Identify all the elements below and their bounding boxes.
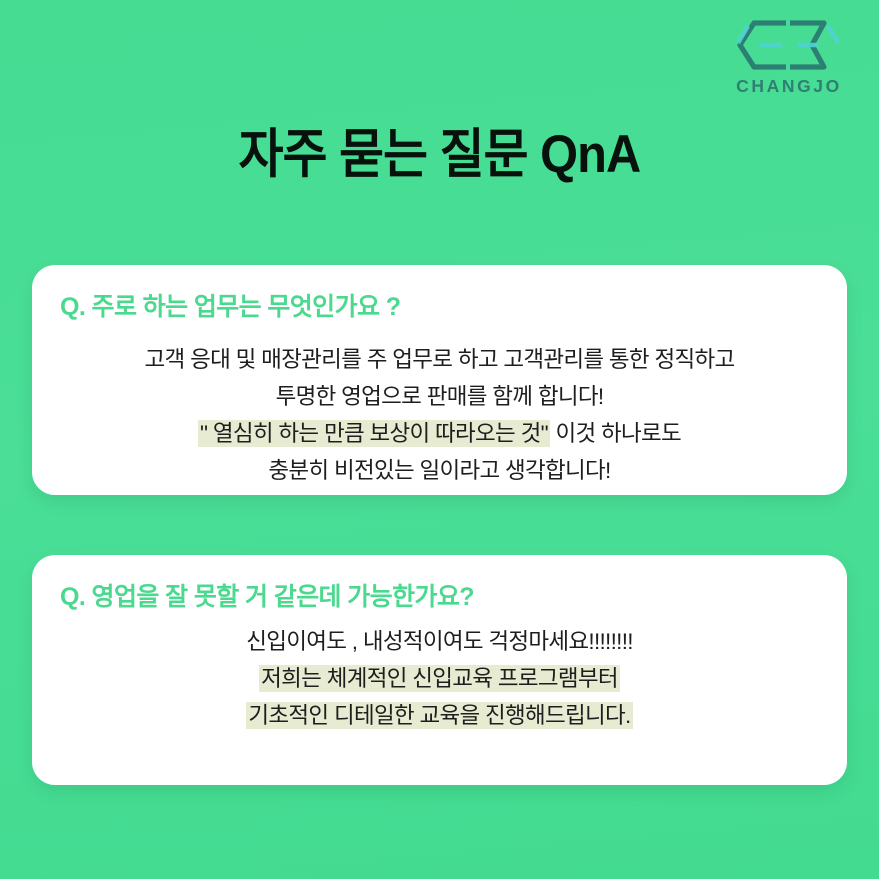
answer-line: 신입이여도 , 내성적이여도 걱정마세요!!!!!!!! (32, 623, 847, 660)
answer-line: " 열심히 하는 만큼 보상이 따라오는 것" 이것 하나로도 (32, 415, 847, 452)
answer-text: 신입이여도 , 내성적이여도 걱정마세요!!!!!!!! (246, 629, 633, 654)
faq-question-1: Q. 주로 하는 업무는 무엇인가요 ? (60, 287, 400, 323)
page-title: 자주 묻는 질문 QnA (35, 112, 844, 188)
highlighted-text: " 열심히 하는 만큼 보상이 따라오는 것" (198, 420, 550, 447)
brand-logo: CHANGJO (721, 14, 857, 96)
answer-text: 이것 하나로도 (550, 421, 681, 446)
answer-text: 고객 응대 및 매장관리를 주 업무로 하고 고객관리를 통한 정직하고 (145, 347, 735, 372)
answer-line: 투명한 영업으로 판매를 함께 합니다! (32, 378, 847, 415)
faq-question-2: Q. 영업을 잘 못할 거 같은데 가능한가요? (60, 577, 474, 613)
faq-card-2: Q. 영업을 잘 못할 거 같은데 가능한가요? 신입이여도 , 내성적이여도 … (32, 555, 847, 785)
highlighted-text: 저희는 체계적인 신입교육 프로그램부터 (259, 665, 620, 692)
highlighted-text: 기초적인 디테일한 교육을 진행해드립니다. (246, 702, 632, 729)
answer-text: 충분히 비전있는 일이라고 생각합니다! (268, 458, 610, 483)
answer-line: 고객 응대 및 매장관리를 주 업무로 하고 고객관리를 통한 정직하고 (32, 341, 847, 378)
answer-text: 투명한 영업으로 판매를 함께 합니다! (276, 384, 604, 409)
answer-line: 기초적인 디테일한 교육을 진행해드립니다. (32, 697, 847, 734)
answer-line: 저희는 체계적인 신입교육 프로그램부터 (32, 660, 847, 697)
faq-answer-1: 고객 응대 및 매장관리를 주 업무로 하고 고객관리를 통한 정직하고투명한 … (32, 341, 847, 489)
faq-page: CHANGJO 자주 묻는 질문 QnA Q. 주로 하는 업무는 무엇인가요 … (0, 0, 879, 879)
brand-wordmark: CHANGJO (736, 78, 842, 96)
answer-line: 충분히 비전있는 일이라고 생각합니다! (32, 452, 847, 489)
faq-answer-2: 신입이여도 , 내성적이여도 걱정마세요!!!!!!!!저희는 체계적인 신입교… (32, 623, 847, 734)
changjo-cj-monogram-logo (728, 14, 850, 76)
faq-card-1: Q. 주로 하는 업무는 무엇인가요 ? 고객 응대 및 매장관리를 주 업무로… (32, 265, 847, 495)
